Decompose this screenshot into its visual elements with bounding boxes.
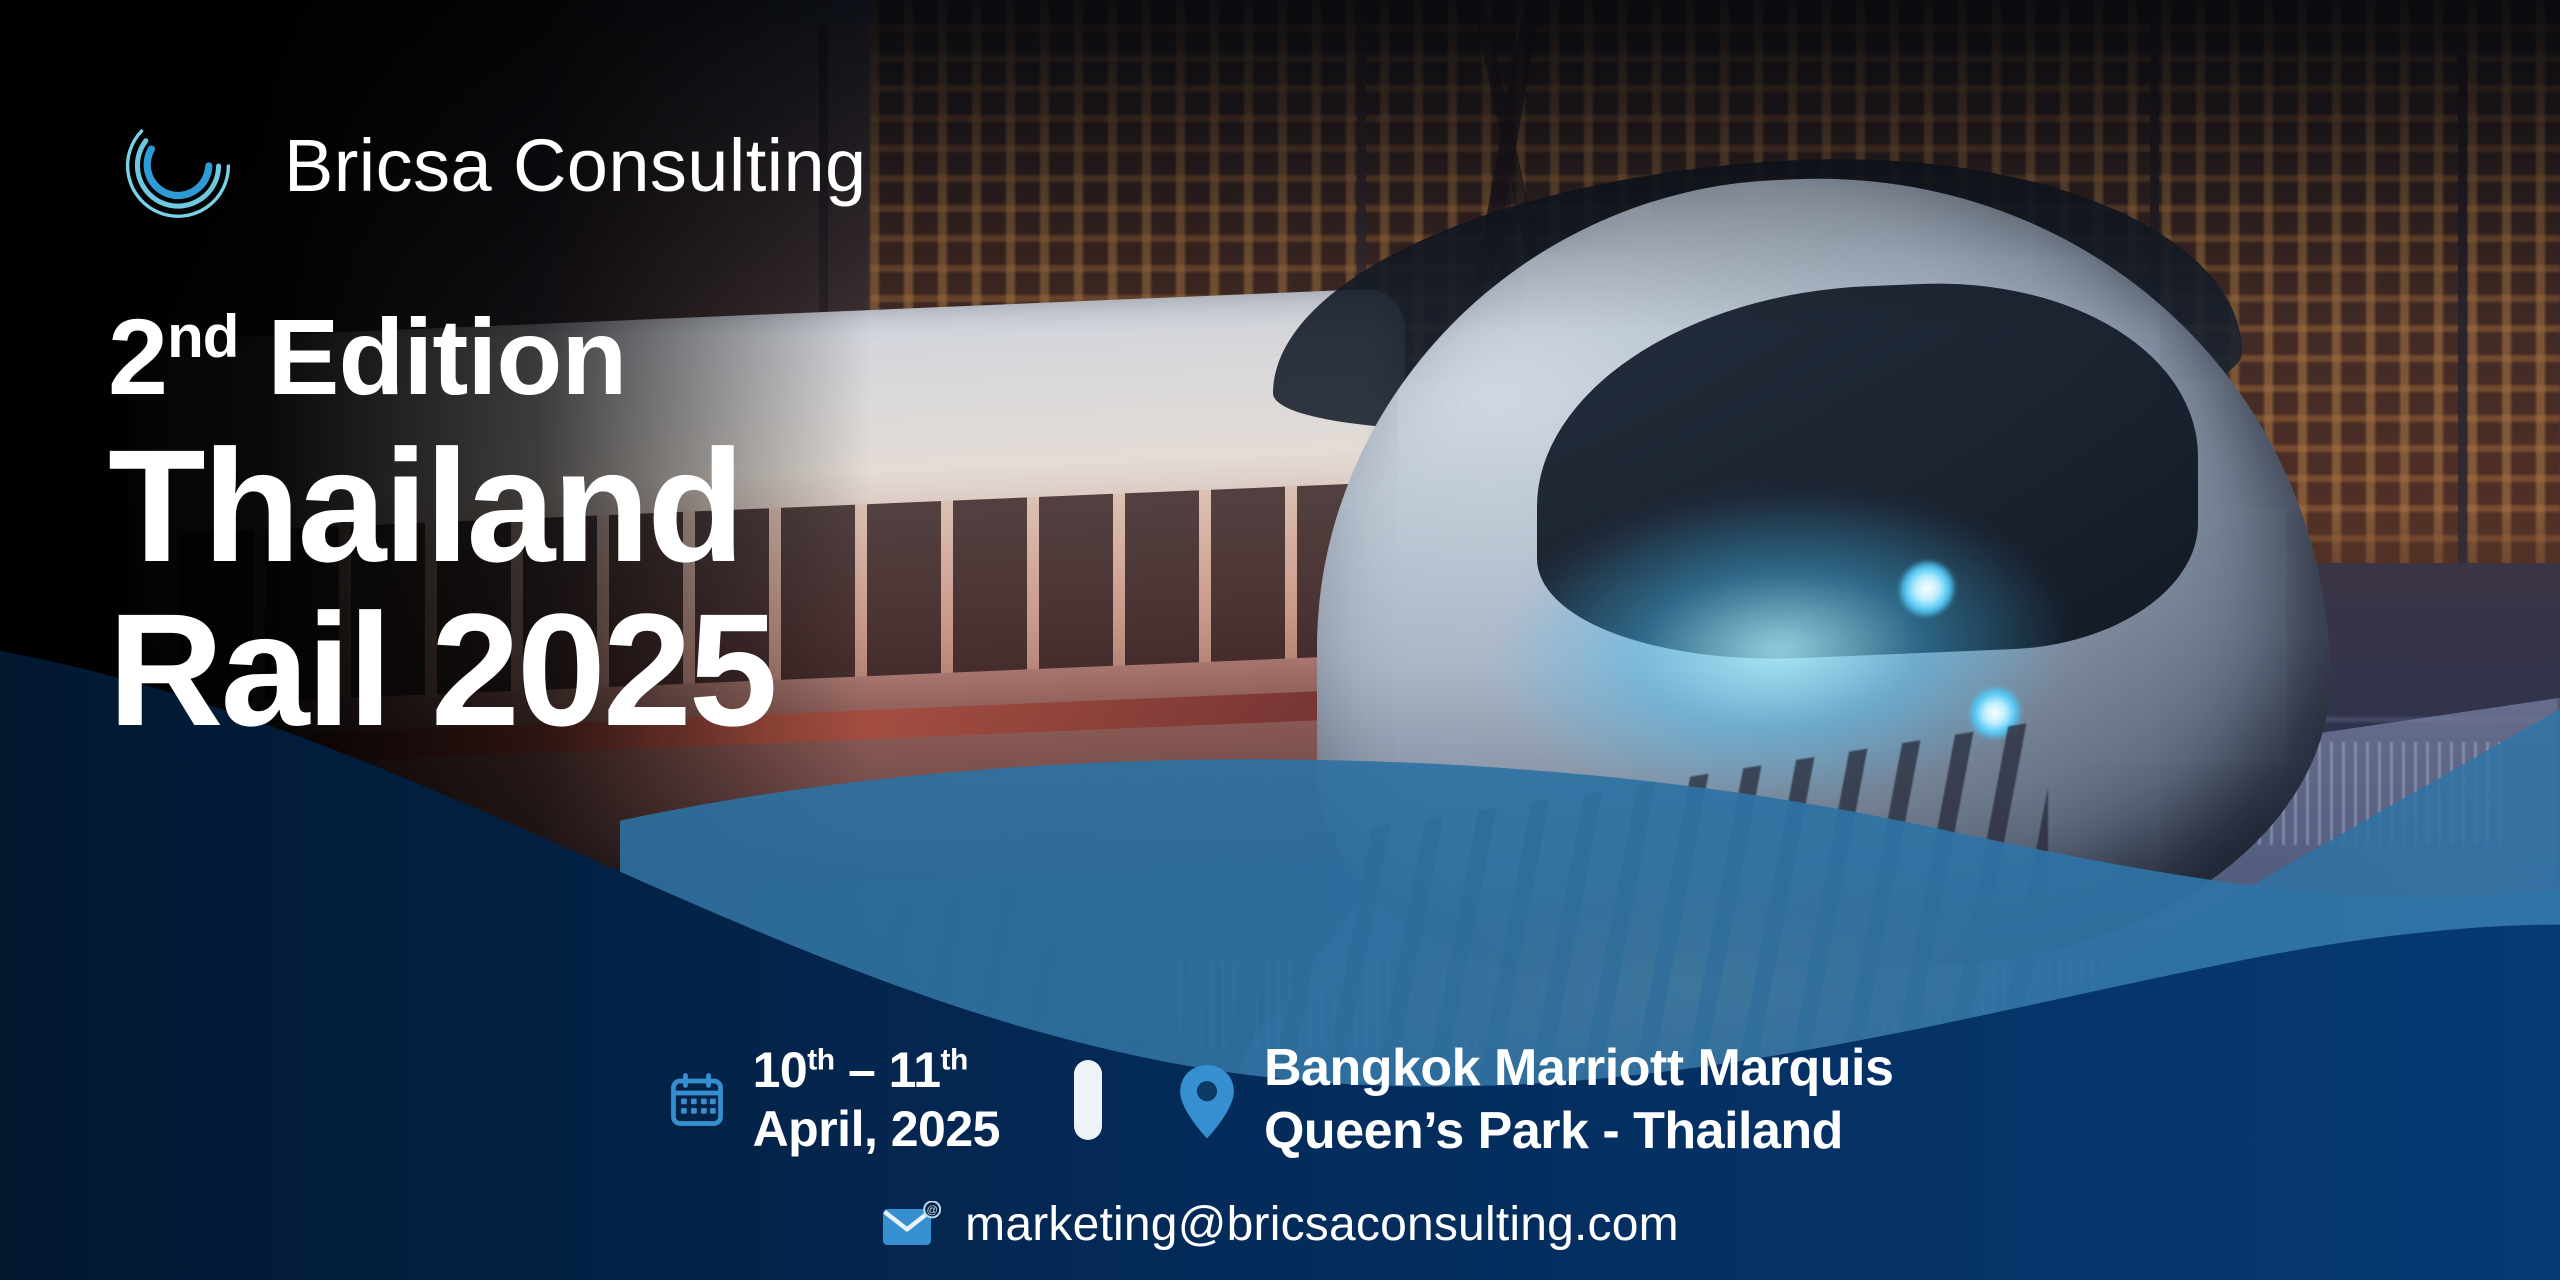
- event-date-block: 10th – 11th April, 2025: [667, 1041, 1000, 1159]
- event-title: Thailand Rail 2025: [108, 424, 775, 750]
- event-venue-block: Bangkok Marriott Marquis Queen’s Park - …: [1176, 1037, 1893, 1162]
- date-month-year: April, 2025: [753, 1101, 1000, 1157]
- event-title-line1: Thailand: [108, 416, 742, 595]
- edition-word: Edition: [267, 296, 626, 417]
- map-pin-icon: [1176, 1063, 1238, 1137]
- event-title-line2: Rail 2025: [108, 588, 775, 751]
- brand-name: Bricsa Consulting: [284, 129, 867, 203]
- edition-ordinal: nd: [167, 303, 238, 370]
- date-day-start: 10: [753, 1042, 808, 1098]
- edition-number: 2: [108, 296, 167, 417]
- date-day-start-ordinal: th: [807, 1043, 834, 1076]
- vertical-divider: [1074, 1060, 1102, 1140]
- event-date-text: 10th – 11th April, 2025: [753, 1041, 1000, 1159]
- event-venue-text: Bangkok Marriott Marquis Queen’s Park - …: [1264, 1037, 1893, 1162]
- date-day-end-ordinal: th: [941, 1043, 968, 1076]
- date-dash: –: [848, 1042, 875, 1098]
- contact-email[interactable]: marketing@bricsaconsulting.com: [965, 1197, 1679, 1252]
- concentric-arcs-logo-icon: [108, 96, 248, 236]
- calendar-icon: [667, 1070, 727, 1130]
- date-day-end: 11: [889, 1042, 941, 1098]
- svg-text:@: @: [927, 1204, 938, 1216]
- email-icon: @: [881, 1201, 941, 1249]
- event-banner: Bricsa Consulting 2nd Edition Thailand R…: [0, 0, 2560, 1280]
- venue-line1: Bangkok Marriott Marquis: [1264, 1039, 1893, 1097]
- venue-line2: Queen’s Park - Thailand: [1264, 1102, 1843, 1160]
- event-info-bar: 10th – 11th April, 2025 Bangkok Marriott…: [0, 1037, 2560, 1162]
- headline-block: 2nd Edition Thailand Rail 2025: [108, 300, 775, 751]
- contact-row[interactable]: @ marketing@bricsaconsulting.com: [0, 1197, 2560, 1252]
- edition-line: 2nd Edition: [108, 300, 775, 414]
- brand-logo[interactable]: Bricsa Consulting: [108, 96, 867, 236]
